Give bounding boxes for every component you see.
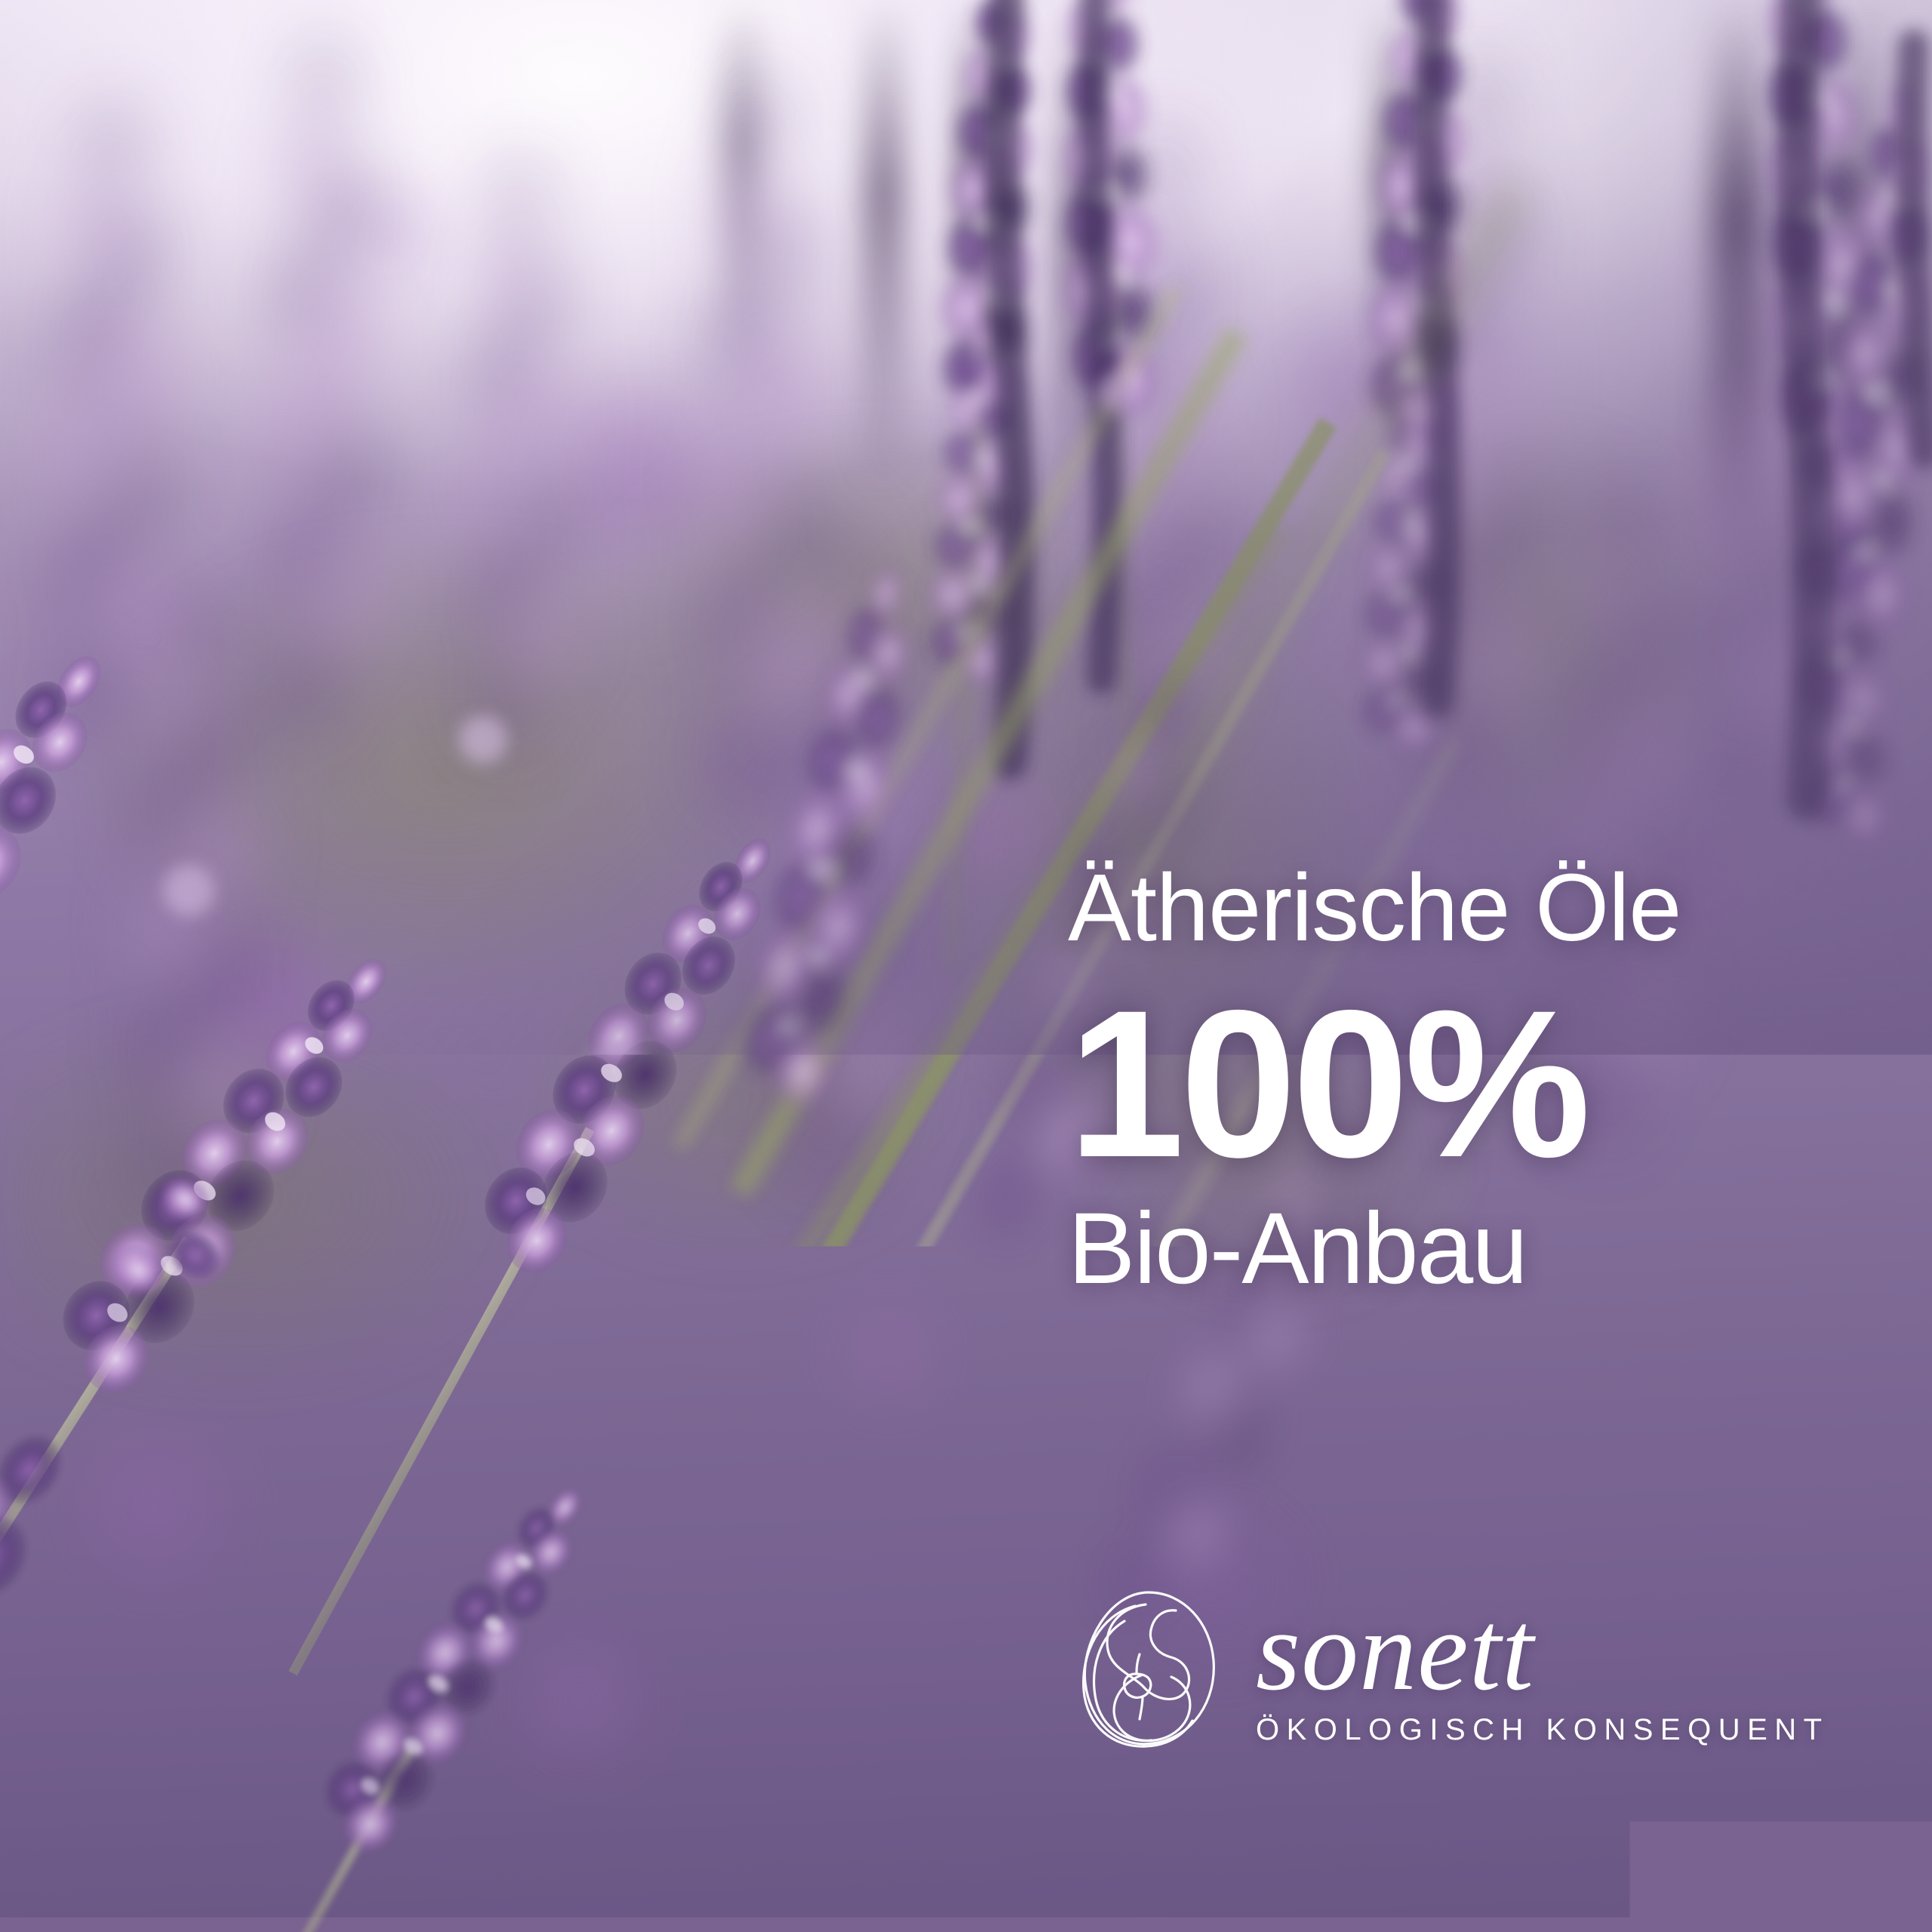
- headline-block: Ätherische Öle 100% Bio-Anbau: [1068, 860, 1687, 1300]
- claim-percentage: 100%: [1068, 981, 1687, 1186]
- brand-tagline: ÖKOLOGISCH KONSEQUENT: [1256, 1713, 1829, 1747]
- headline-line-1: Ätherische Öle: [1068, 860, 1687, 955]
- brand-text-stack: sonett ÖKOLOGISCH KONSEQUENT: [1256, 1593, 1829, 1748]
- sonett-knot-logo-icon: [1070, 1585, 1229, 1755]
- brand-lockup: sonett ÖKOLOGISCH KONSEQUENT: [1070, 1585, 1829, 1755]
- brand-wordmark: sonett: [1256, 1601, 1534, 1702]
- headline-line-3: Bio-Anbau: [1068, 1198, 1687, 1300]
- poster-canvas: Ätherische Öle 100% Bio-Anbau: [0, 0, 1932, 1932]
